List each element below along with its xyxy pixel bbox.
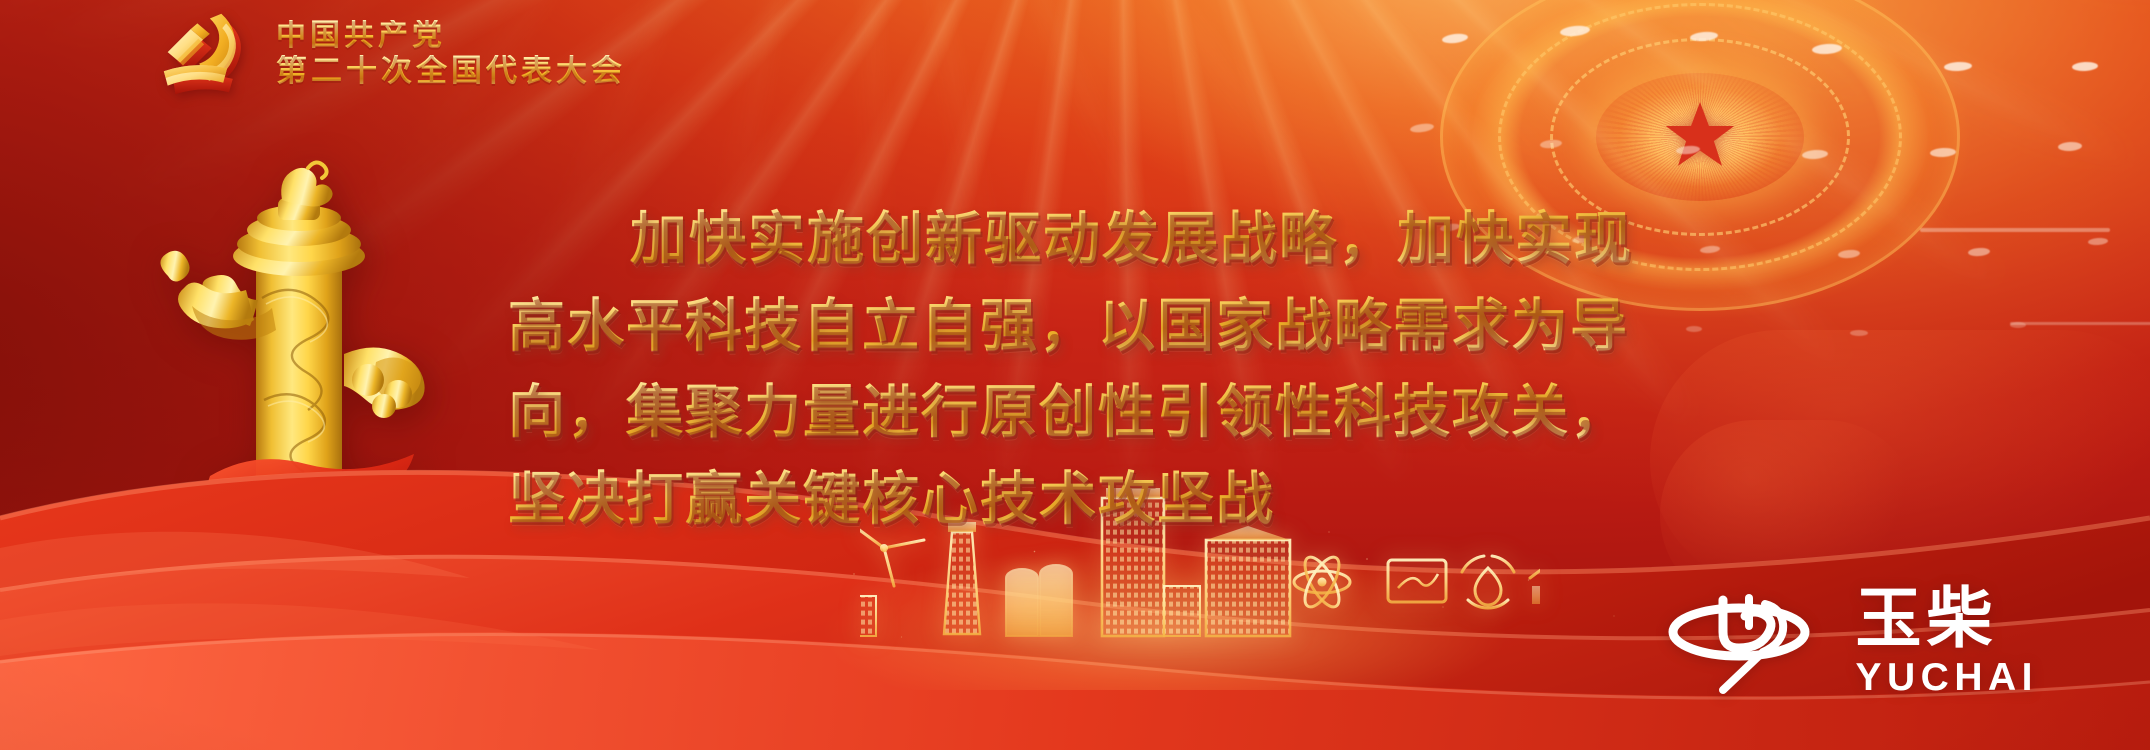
cpc-logo-line2: 第二十次全国代表大会 (276, 55, 626, 88)
slogan-line-2: 高水平科技自立自强，以国家战略需求为导 (508, 283, 1788, 370)
yuchai-name-cn: 玉柴 (1855, 587, 1997, 652)
yuchai-name-en: YUCHAI (1855, 658, 2038, 697)
congress-banner: 中国共产党 第二十次全国代表大会 加快实施创新驱动发展战略，加快实现 高水平科技… (0, 0, 2150, 750)
slogan-block: 加快实施创新驱动发展战略，加快实现 高水平科技自立自强，以国家战略需求为导 向，… (508, 196, 1788, 543)
cpc-logo-line1: 中国共产党 (276, 20, 626, 52)
slogan-line-1: 加快实施创新驱动发展战略，加快实现 (508, 196, 1788, 283)
hammer-and-sickle-icon (158, 8, 254, 100)
cpc-congress-logo: 中国共产党 第二十次全国代表大会 (158, 8, 626, 100)
slogan-line-3: 向，集聚力量进行原创性引领性科技攻关， (508, 369, 1788, 456)
slogan-line-4: 坚决打赢关键核心技术攻坚战 (508, 456, 1788, 543)
yuchai-ellipse-mark-icon (1665, 586, 1829, 698)
yuchai-logo: 玉柴 YUCHAI (1665, 586, 2038, 698)
